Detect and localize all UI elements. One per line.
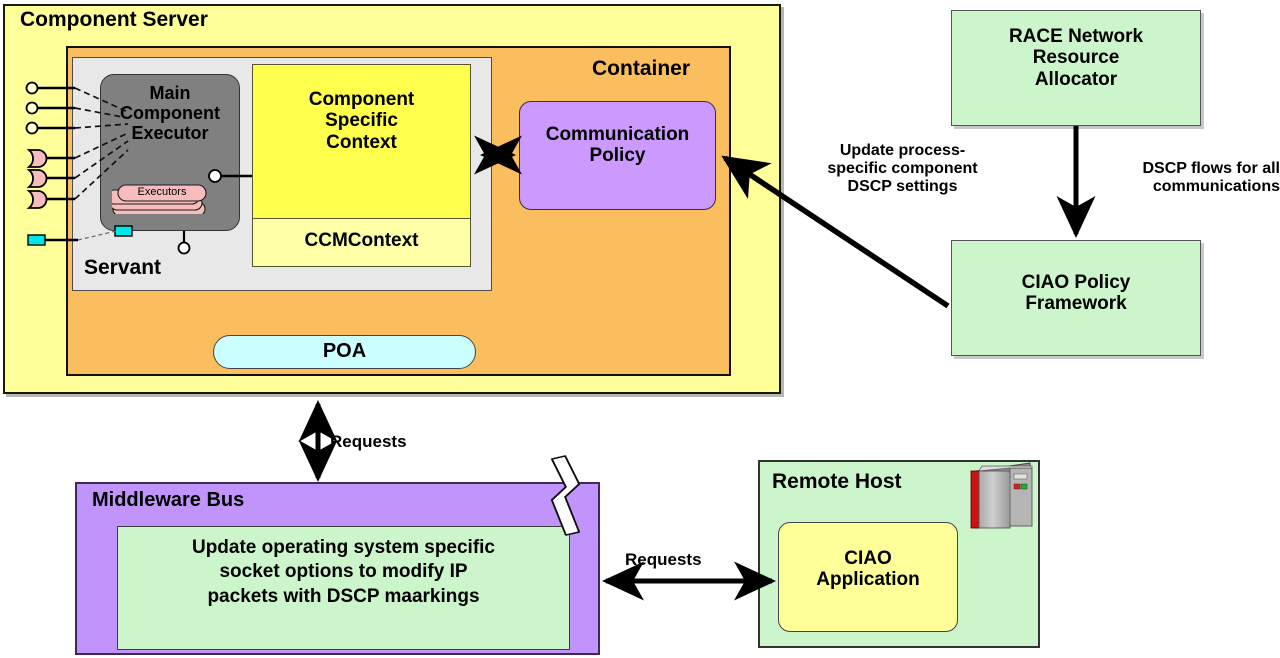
executor-bottom-port bbox=[179, 231, 190, 254]
facet-port-2[interactable] bbox=[27, 103, 76, 114]
update-dscp-arrow bbox=[725, 158, 948, 306]
attribute-port-executor-side bbox=[115, 226, 132, 236]
facet-port-3[interactable] bbox=[27, 123, 76, 134]
receptacle-port-1[interactable] bbox=[29, 150, 75, 167]
executor-context-connector bbox=[209, 170, 252, 182]
port-leader-lines bbox=[75, 88, 128, 240]
bus-break-symbol bbox=[552, 456, 579, 535]
attribute-port-1[interactable] bbox=[28, 235, 78, 245]
facet-port-1[interactable] bbox=[27, 83, 76, 94]
server-tower-icon bbox=[971, 463, 1032, 528]
architecture-diagram: Component Server Container Servant Main … bbox=[0, 0, 1280, 658]
receptacle-port-3[interactable] bbox=[29, 191, 75, 208]
diagram-connectors-layer bbox=[0, 0, 1280, 658]
receptacle-port-2[interactable] bbox=[29, 170, 75, 187]
